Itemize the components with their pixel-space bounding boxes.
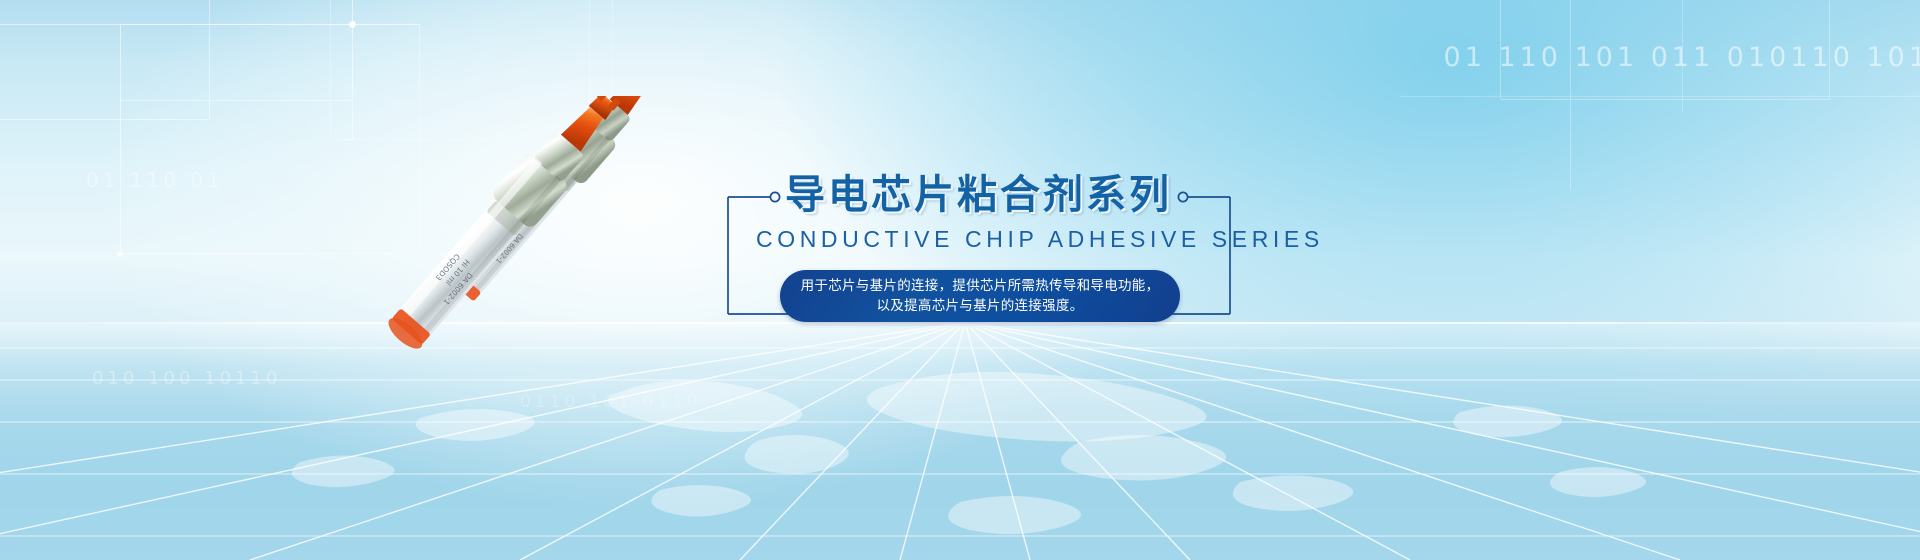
decor-line-v2 xyxy=(120,24,121,254)
decor-line-h1 xyxy=(0,24,420,25)
decor-node-dot-1 xyxy=(349,21,356,28)
description-line-2: 以及提高芯片与基片的连接强度。 xyxy=(877,296,1084,316)
description-badge: 用于芯片与基片的连接，提供芯片所需热传导和导电功能， 以及提高芯片与基片的连接强… xyxy=(780,270,1180,322)
decor-line-h2 xyxy=(120,100,350,101)
binary-text-top-right: 01 110 101 011 010110 101 xyxy=(1444,42,1920,73)
page-title: 导电芯片粘合剂系列 xyxy=(785,172,1240,218)
page-subtitle-en: CONDUCTIVE CHIP ADHESIVE SERIES xyxy=(756,226,1238,253)
decor-node-dot-2 xyxy=(117,251,123,257)
adhesive-syringe-icon: CQSOD3 Hi 10 ml DA 6002-1 CQSOD xyxy=(318,96,658,406)
product-banner: 01 110 101 011 010110 101 01 110 01 010 … xyxy=(0,0,1920,560)
binary-text-mid-left: 01 110 01 xyxy=(86,168,224,192)
decor-line-h3 xyxy=(0,254,300,255)
banner-copy-block: 导电芯片粘合剂系列 CONDUCTIVE CHIP ADHESIVE SERIE… xyxy=(718,170,1238,330)
perspective-floor xyxy=(0,322,1920,560)
world-map-icon xyxy=(0,322,1920,560)
description-line-1: 用于芯片与基片的连接，提供芯片所需热传导和导电功能， xyxy=(801,276,1160,296)
